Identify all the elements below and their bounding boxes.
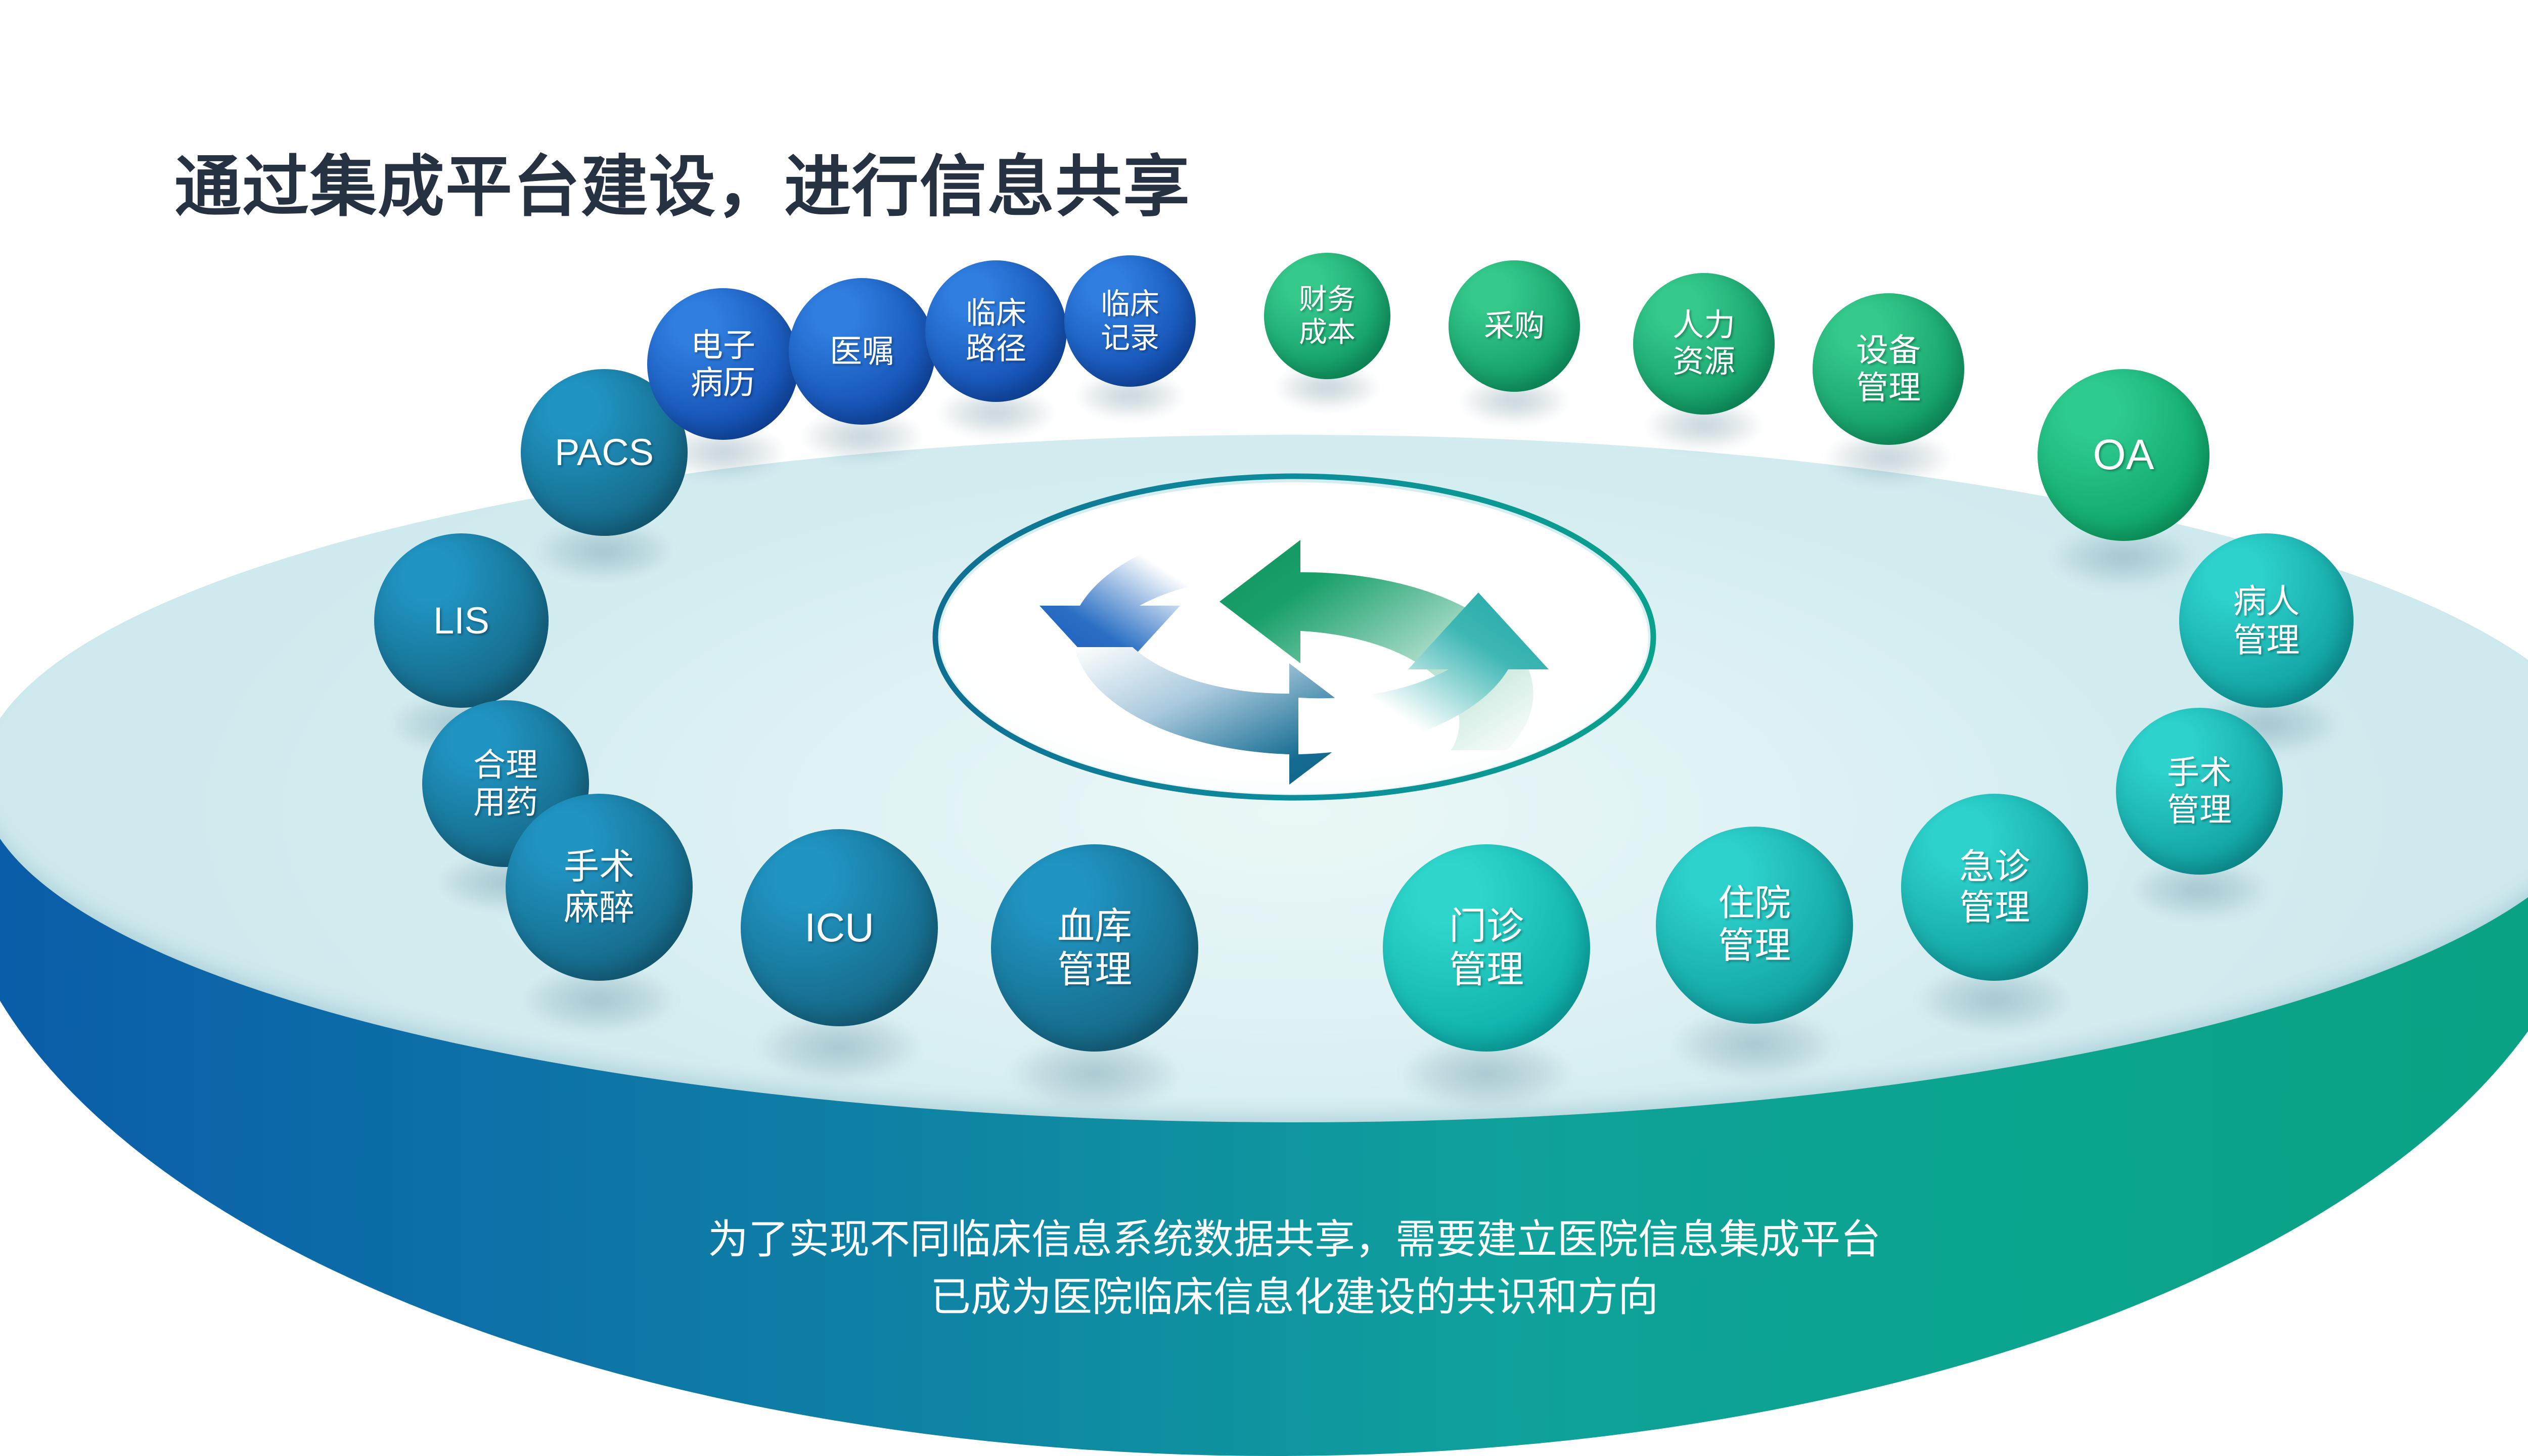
bubble-icu[interactable]: ICU: [741, 829, 938, 1026]
bubble-label-emr: 电子 病历: [691, 327, 755, 401]
bubble-outpatient[interactable]: 门诊 管理: [1383, 844, 1590, 1052]
bubble-label-surgery_mg: 手术 管理: [2167, 754, 2232, 829]
bubble-label-purchase: 采购: [1484, 308, 1545, 344]
bubble-label-equipment: 设备 管理: [1856, 332, 1921, 406]
bubble-label-hr: 人力 资源: [1673, 307, 1735, 380]
bubble-orders[interactable]: 医嘱: [789, 278, 935, 425]
bubble-label-emergency: 急诊 管理: [1959, 846, 2030, 928]
bubble-inpatient[interactable]: 住院 管理: [1656, 827, 1853, 1024]
bubble-patient[interactable]: 病人 管理: [2179, 533, 2354, 708]
bubble-label-rational: 合理 用药: [473, 746, 538, 821]
bubble-emr[interactable]: 电子 病历: [647, 288, 799, 440]
bubble-emergency[interactable]: 急诊 管理: [1901, 794, 2088, 981]
center-cycle-graphic: [617, 445, 1972, 829]
bubble-label-lis: LIS: [433, 599, 489, 643]
bubble-label-finance: 财务 成本: [1299, 283, 1356, 349]
infographic-canvas: PACS电子 病历医嘱临床 路径临床 记录财务 成本采购人力 资源设备 管理OA…: [0, 0, 2528, 1456]
bubble-label-oa: OA: [2093, 430, 2154, 479]
bubble-anesthesia[interactable]: 手术 麻醉: [506, 794, 693, 981]
bubble-pathway[interactable]: 临床 路径: [925, 260, 1067, 402]
bubble-label-pathway: 临床 路径: [966, 296, 1026, 366]
bubble-hr[interactable]: 人力 资源: [1633, 273, 1775, 415]
caption-line-2: 已成为医院临床信息化建设的共识和方向: [0, 1268, 2528, 1326]
bubble-label-outpatient: 门诊 管理: [1449, 904, 1524, 991]
bubble-surgery_mg[interactable]: 手术 管理: [2116, 708, 2283, 875]
bubble-label-inpatient: 住院 管理: [1718, 883, 1791, 967]
page-title: 通过集成平台建设，进行信息共享: [174, 133, 1191, 230]
bubble-purchase[interactable]: 采购: [1449, 260, 1580, 392]
bubble-label-patient: 病人 管理: [2233, 582, 2300, 659]
bubble-label-record: 临床 记录: [1101, 287, 1159, 355]
bubble-bloodbank[interactable]: 血库 管理: [991, 844, 1198, 1052]
bubble-equipment[interactable]: 设备 管理: [1813, 293, 1964, 445]
bubble-label-orders: 医嘱: [830, 333, 894, 370]
bubble-label-pacs: PACS: [555, 431, 654, 474]
bubble-label-anesthesia: 手术 麻醉: [564, 846, 635, 928]
caption-block: 为了实现不同临床信息系统数据共享，需要建立医院信息集成平台 已成为医院临床信息化…: [0, 1211, 2528, 1326]
bubble-finance[interactable]: 财务 成本: [1264, 253, 1390, 379]
bubble-oa[interactable]: OA: [2038, 369, 2209, 541]
bubble-label-icu: ICU: [804, 904, 874, 951]
bubble-label-bloodbank: 血库 管理: [1057, 904, 1132, 991]
caption-line-1: 为了实现不同临床信息系统数据共享，需要建立医院信息集成平台: [0, 1211, 2528, 1268]
bubble-lis[interactable]: LIS: [374, 533, 549, 708]
bubble-record[interactable]: 临床 记录: [1064, 255, 1196, 387]
